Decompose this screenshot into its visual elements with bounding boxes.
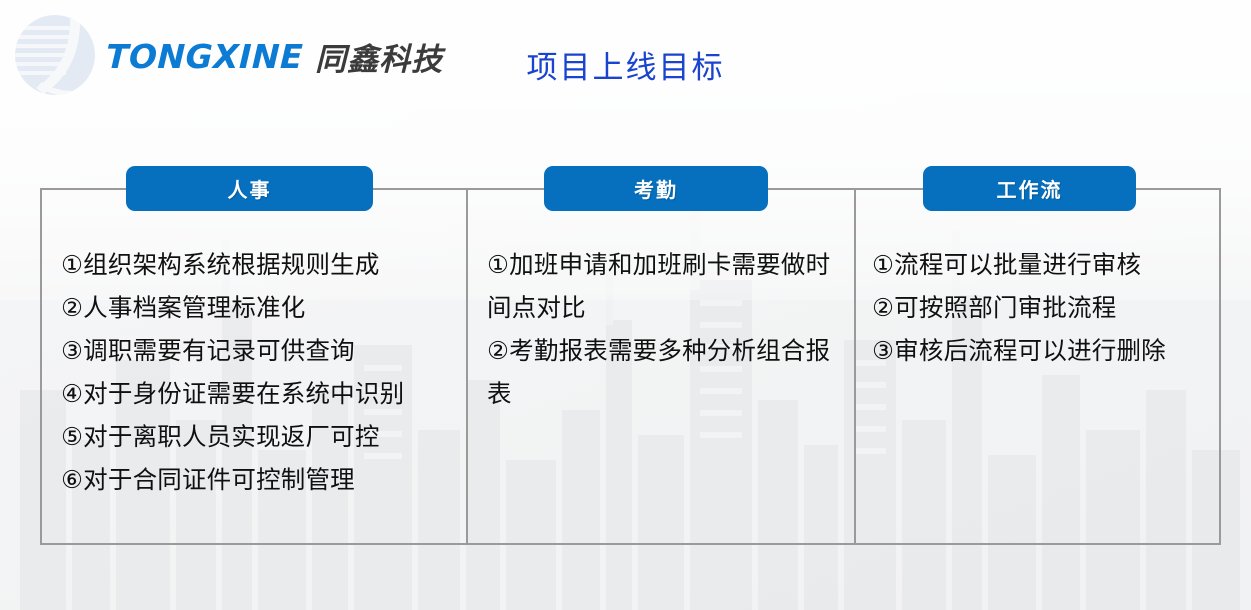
list-item: ②人事档案管理标准化 [61, 286, 453, 329]
list-item: ①加班申请和加班刷卡需要做时间点对比 [487, 243, 843, 329]
tab-attendance[interactable]: 考勤 [544, 166, 768, 211]
column-body-attendance: ①加班申请和加班刷卡需要做时间点对比 ②考勤报表需要多种分析组合报表 [487, 243, 843, 415]
list-item: ③调职需要有记录可供查询 [61, 329, 453, 372]
list-item: ③审核后流程可以进行删除 [872, 329, 1204, 372]
column-body-hr: ①组织架构系统根据规则生成 ②人事档案管理标准化 ③调职需要有记录可供查询 ④对… [61, 243, 453, 501]
column-divider-1 [466, 188, 468, 545]
list-item: ⑤对于离职人员实现返厂可控 [61, 415, 453, 458]
list-item: ①组织架构系统根据规则生成 [61, 243, 453, 286]
tab-attendance-label: 考勤 [634, 174, 678, 203]
page-title: 项目上线目标 [0, 42, 1251, 87]
list-item: ①流程可以批量进行审核 [872, 243, 1204, 286]
slide-header: TONGXINE 同鑫科技 项目上线目标 [0, 0, 1251, 112]
tab-workflow[interactable]: 工作流 [923, 166, 1136, 211]
list-item: ⑥对于合同证件可控制管理 [61, 458, 453, 501]
list-item: ②可按照部门审批流程 [872, 286, 1204, 329]
tab-hr[interactable]: 人事 [126, 166, 373, 211]
tab-workflow-label: 工作流 [997, 174, 1063, 203]
slide-canvas: TONGXINE 同鑫科技 项目上线目标 人事 考勤 工作流 ①组织架构系统根据… [0, 0, 1251, 610]
list-item: ④对于身份证需要在系统中识别 [61, 372, 453, 415]
column-divider-2 [854, 188, 856, 545]
tab-hr-label: 人事 [228, 174, 272, 203]
column-body-workflow: ①流程可以批量进行审核 ②可按照部门审批流程 ③审核后流程可以进行删除 [872, 243, 1204, 372]
list-item: ②考勤报表需要多种分析组合报表 [487, 329, 843, 415]
